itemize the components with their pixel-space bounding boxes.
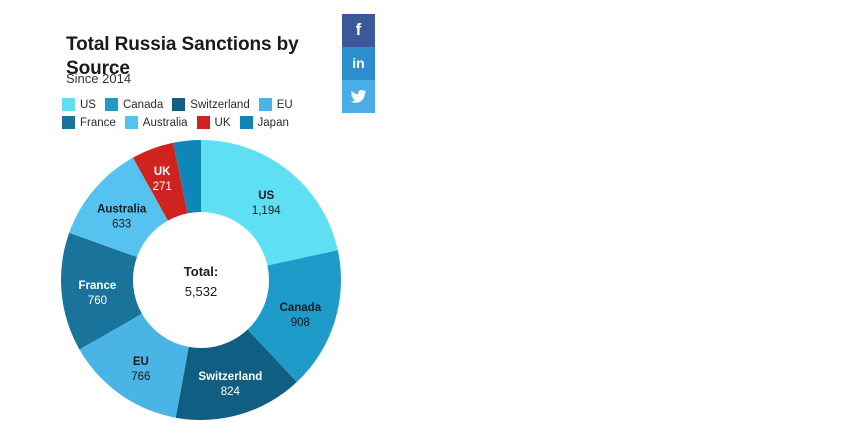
donut-slice-label: Canada xyxy=(280,302,322,314)
facebook-icon: f xyxy=(356,21,362,40)
donut-legend-label: UK xyxy=(215,117,231,129)
donut-legend-label: Australia xyxy=(143,117,188,129)
donut-legend: USCanadaSwitzerlandEUFranceAustraliaUKJa… xyxy=(62,97,342,133)
donut-legend-item[interactable]: Australia xyxy=(125,115,188,130)
donut-slice-value: 908 xyxy=(291,317,310,329)
legend-swatch-icon xyxy=(105,98,118,111)
donut-slice-value: 760 xyxy=(88,295,107,307)
donut-legend-item[interactable]: France xyxy=(62,115,116,130)
donut-slice-label: Australia xyxy=(97,204,147,216)
legend-swatch-icon xyxy=(172,98,185,111)
donut-legend-label: US xyxy=(80,99,96,111)
donut-slice-value: 824 xyxy=(221,386,241,398)
twitter-share-button[interactable] xyxy=(342,80,375,113)
donut-legend-label: EU xyxy=(277,99,293,111)
bar-chart-panel: Russia Is Now The World's Most Sanctione… xyxy=(432,0,863,423)
donut-chart: US1,194Canada908Switzerland824EU766Franc… xyxy=(58,137,344,423)
linkedin-icon: in xyxy=(352,55,364,73)
linkedin-share-button[interactable]: in xyxy=(342,47,375,80)
donut-slice-label: UK xyxy=(154,166,171,178)
donut-slice-value: 766 xyxy=(131,371,150,383)
donut-slice-label: EU xyxy=(133,356,149,368)
donut-legend-item[interactable]: US xyxy=(62,97,96,112)
donut-legend-item[interactable]: EU xyxy=(259,97,293,112)
donut-legend-item[interactable]: Japan xyxy=(240,115,289,130)
donut-legend-label: Japan xyxy=(258,117,289,129)
donut-chart-subtitle: Since 2014 xyxy=(66,71,131,86)
donut-slice[interactable] xyxy=(201,140,338,266)
legend-swatch-icon xyxy=(62,116,75,129)
donut-chart-panel: Total Russia Sanctions by Source Since 2… xyxy=(0,0,432,423)
donut-slice-label: France xyxy=(79,280,117,292)
legend-swatch-icon xyxy=(197,116,210,129)
legend-swatch-icon xyxy=(125,116,138,129)
donut-center-label: Total: xyxy=(184,264,218,279)
legend-swatch-icon xyxy=(240,116,253,129)
donut-legend-label: Canada xyxy=(123,99,163,111)
donut-legend-item[interactable]: UK xyxy=(197,115,231,130)
donut-legend-item[interactable]: Canada xyxy=(105,97,163,112)
donut-slice-label: Switzerland xyxy=(198,371,262,383)
donut-center-value: 5,532 xyxy=(185,284,218,299)
donut-legend-item[interactable]: Switzerland xyxy=(172,97,249,112)
donut-slice-value: 1,194 xyxy=(252,205,281,217)
donut-slice-label: US xyxy=(258,190,274,202)
donut-chart-svg: US1,194Canada908Switzerland824EU766Franc… xyxy=(58,137,344,423)
donut-slice-value: 633 xyxy=(112,219,131,231)
donut-legend-label: France xyxy=(80,117,116,129)
social-share-rail-left: fin xyxy=(342,14,375,113)
legend-swatch-icon xyxy=(259,98,272,111)
twitter-icon xyxy=(350,88,367,105)
legend-swatch-icon xyxy=(62,98,75,111)
facebook-share-button[interactable]: f xyxy=(342,14,375,47)
donut-slice-value: 271 xyxy=(153,181,172,193)
donut-legend-label: Switzerland xyxy=(190,99,249,111)
